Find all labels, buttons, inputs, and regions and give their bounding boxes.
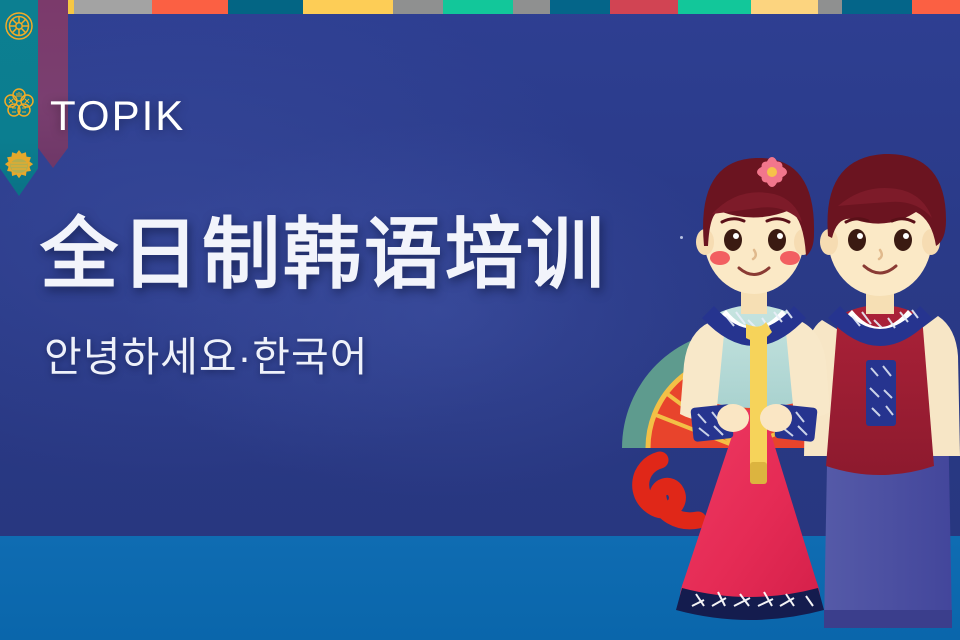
medallion-plum-blossom-icon <box>3 86 35 118</box>
decorative-speck <box>680 236 683 239</box>
color-strip-block-5 <box>228 0 303 14</box>
color-strip-block-3 <box>74 0 152 14</box>
color-strip-block-7 <box>393 0 443 14</box>
woman-figure <box>676 157 830 620</box>
color-strip-block-13 <box>751 0 818 14</box>
page-title: 全日制韩语培训 <box>40 192 607 304</box>
color-strip-block-6 <box>303 0 393 14</box>
color-strip-block-4 <box>152 0 228 14</box>
color-strip-block-9 <box>513 0 550 14</box>
color-strip-block-12 <box>678 0 751 14</box>
color-strip-block-10 <box>550 0 610 14</box>
color-strip-block-15 <box>842 0 912 14</box>
decorative-color-strip <box>0 0 960 14</box>
color-strip-block-16 <box>912 0 960 14</box>
brand-label: TOPIK <box>50 92 185 140</box>
korean-couple-hanbok-illustration <box>600 110 960 640</box>
medallion-sun-rosette-icon <box>3 150 35 182</box>
color-strip-block-8 <box>443 0 513 14</box>
poster-canvas: TOPIK 全日制韩语培训 안녕하세요·한국어 <box>0 0 960 640</box>
page-subtitle: 안녕하세요·한국어 <box>44 323 368 383</box>
purple-hanging-banner <box>38 0 68 168</box>
color-strip-block-11 <box>610 0 678 14</box>
medallion-chrysanthemum-icon <box>3 10 35 42</box>
color-strip-block-14 <box>818 0 842 14</box>
